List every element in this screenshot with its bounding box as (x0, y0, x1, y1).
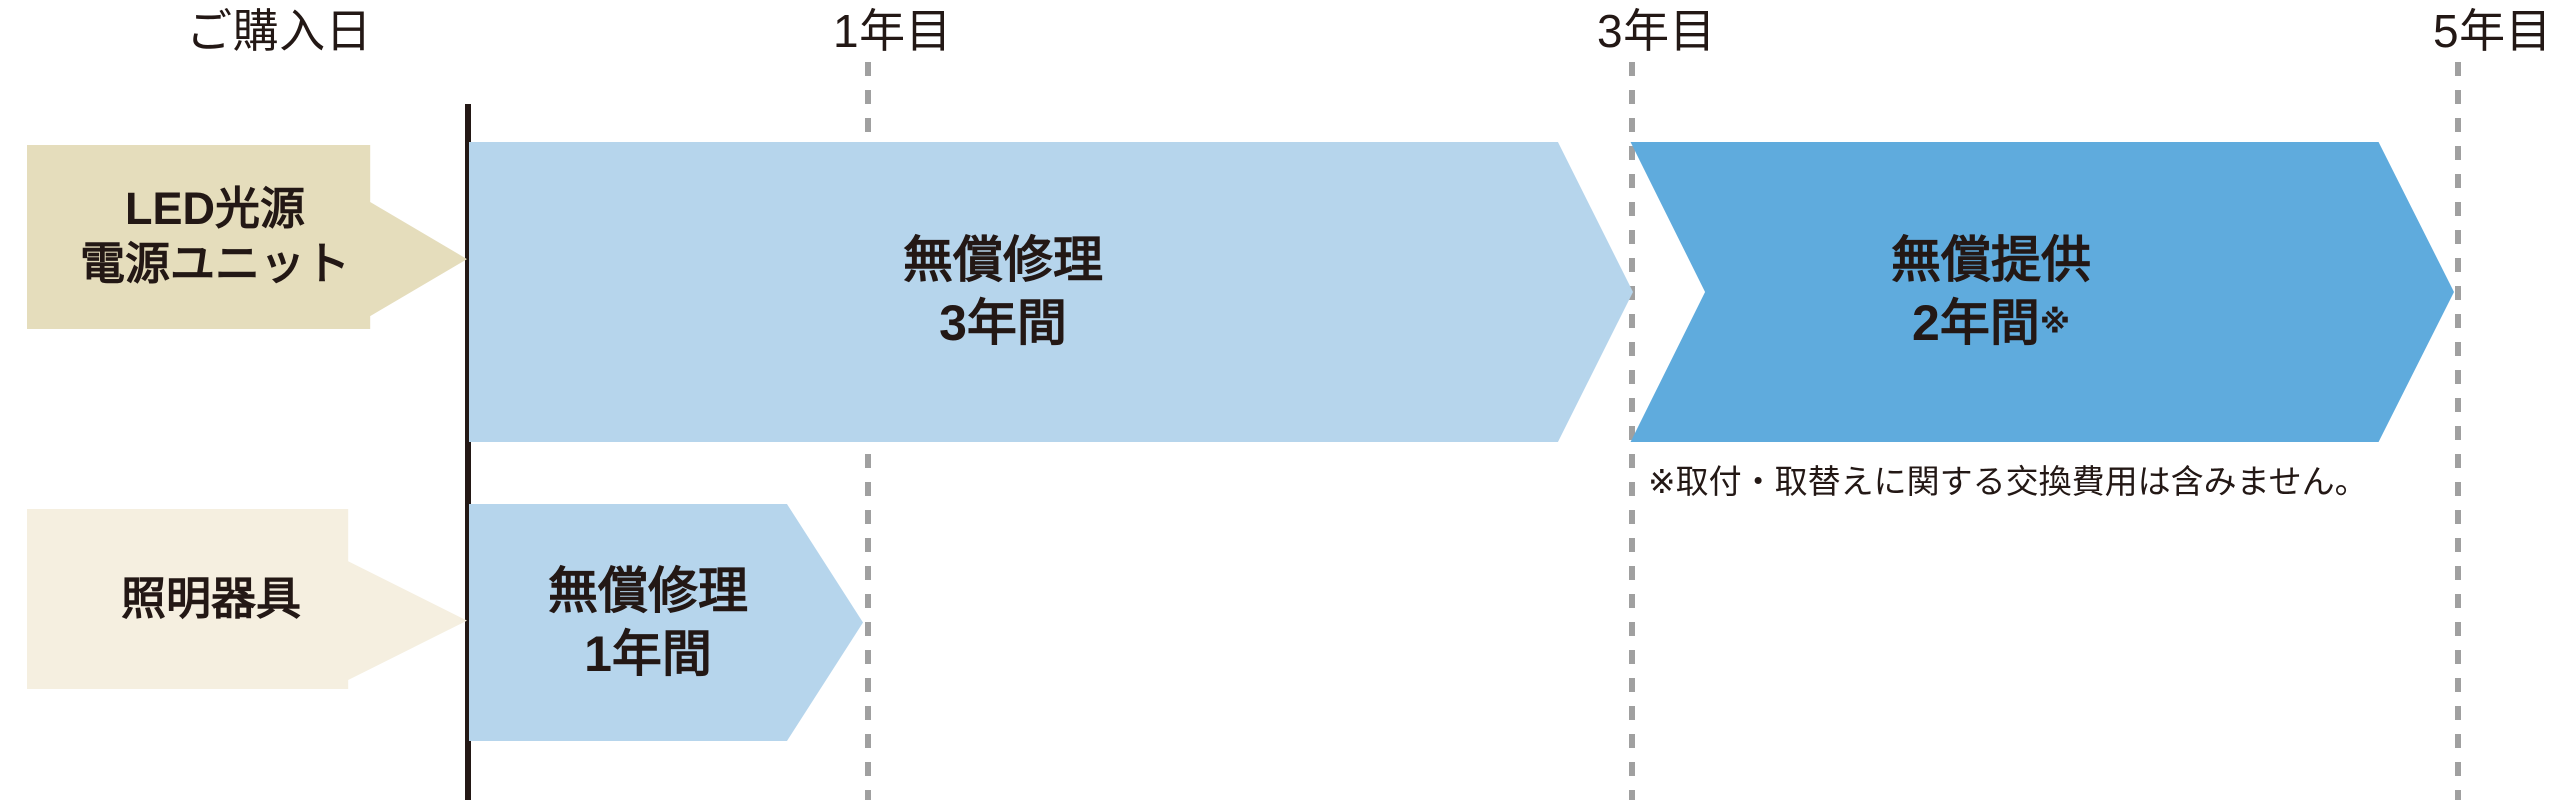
bar-label-free-repair-1-year: 無償修理 1年間 (548, 560, 748, 686)
footnote-text: ※取付・取替えに関する交換費用は含みません。 (1648, 462, 2368, 502)
bar-label-free-repair-3-years: 無償修理 3年間 (903, 229, 1103, 355)
category-label-lighting-fixture: 照明器具 (27, 509, 467, 689)
warranty-timeline-figure: ご購入日 1年目 3年目 5年目 LED光源 電源ユニット 無償修理 3年間 無… (0, 0, 2560, 800)
bar-led-free-supply-2-years: 無償提供 2年間※ (1556, 142, 2454, 442)
bar-label-free-supply-2-years: 無償提供 2年間※ (1891, 229, 2091, 355)
category-label-text: 照明器具 (121, 572, 301, 627)
bar-fixture-free-repair-1-year: 無償修理 1年間 (469, 504, 863, 741)
tick-label-year-3: 3年目 (1597, 8, 1716, 54)
bar-led-free-repair-3-years: 無償修理 3年間 (469, 142, 1633, 442)
tick-label-year-5: 5年目 (2433, 8, 2552, 54)
asterisk-note-marker-icon: ※ (2040, 304, 2070, 339)
tick-label-year-1: 1年目 (833, 8, 952, 54)
category-label-text: LED光源 電源ユニット (80, 182, 350, 292)
category-label-led-light-source: LED光源 電源ユニット (27, 145, 467, 329)
tick-label-purchase-date: ご購入日 (186, 8, 372, 54)
gridline-year-5 (2455, 62, 2461, 800)
